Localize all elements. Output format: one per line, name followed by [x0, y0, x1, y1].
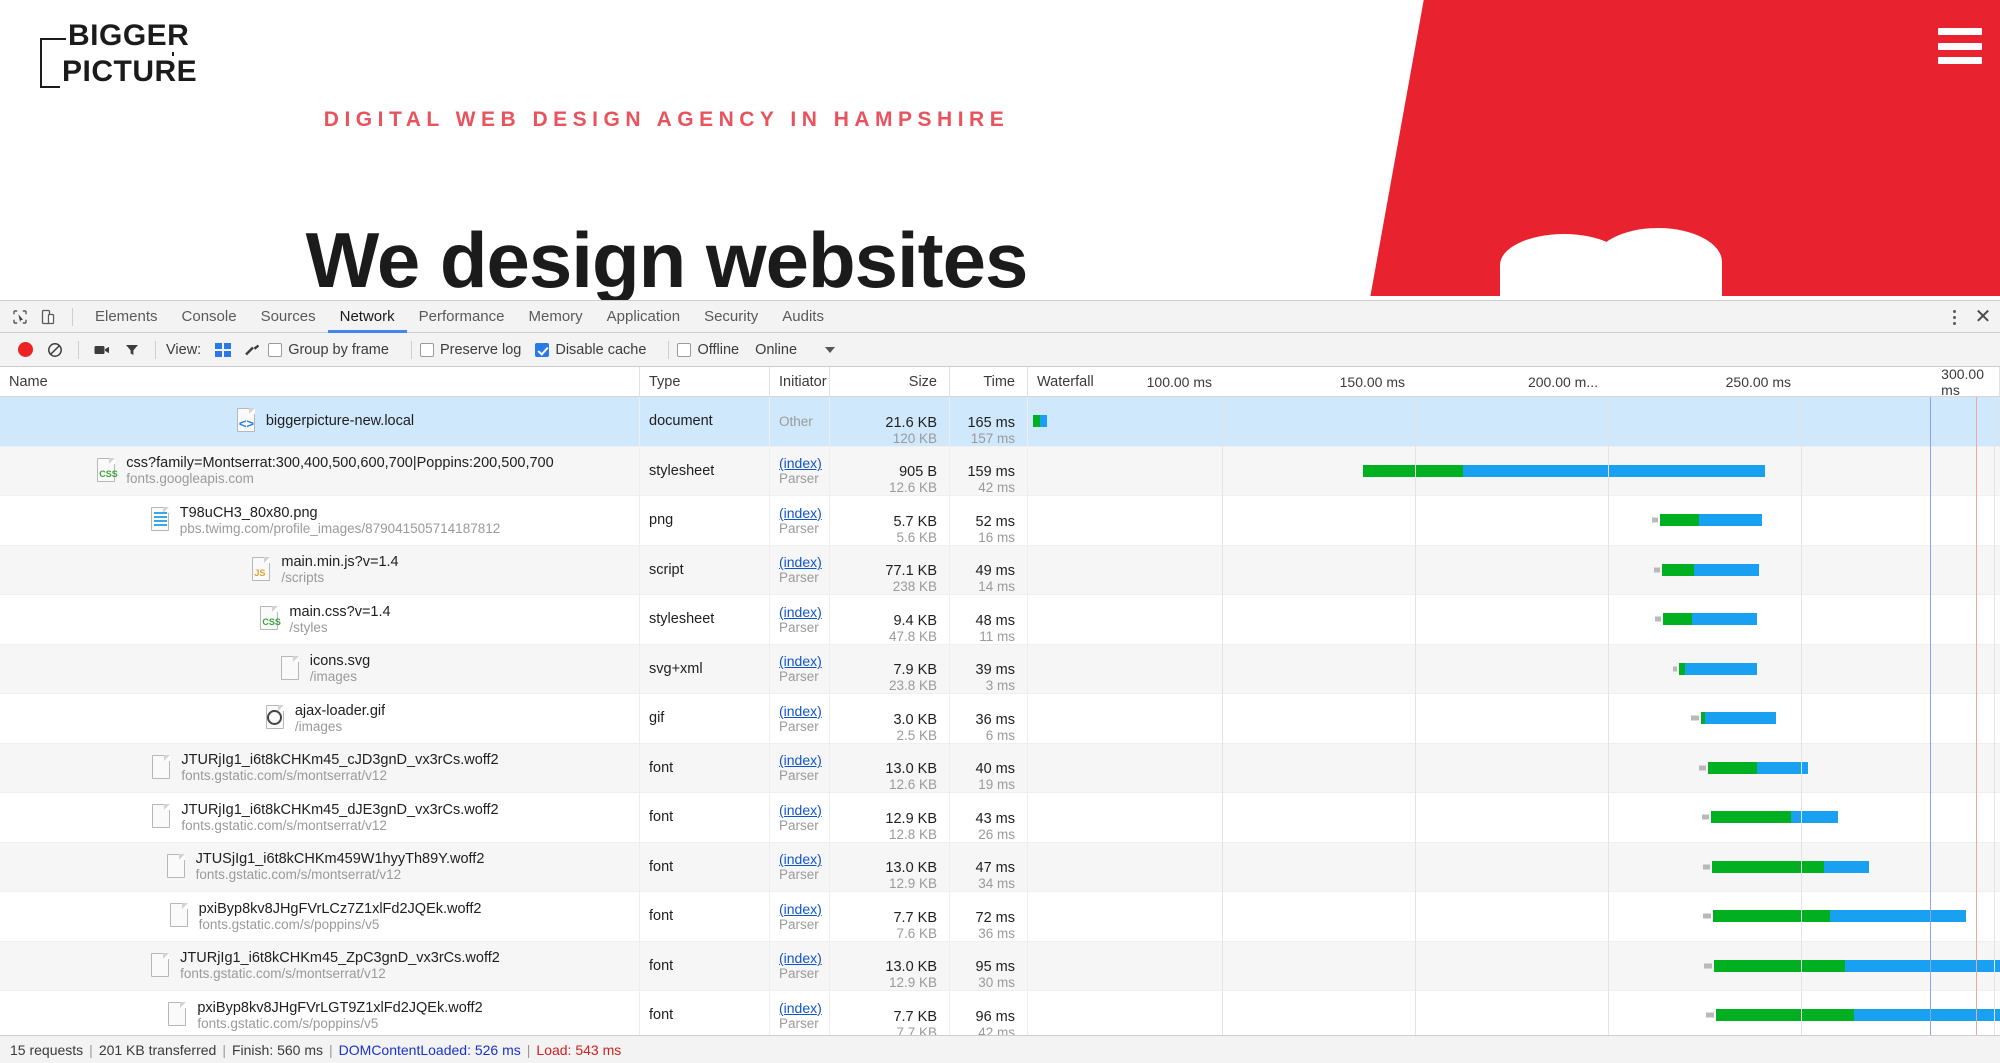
initiator-sub: Parser — [779, 521, 829, 536]
request-name: ajax-loader.gif — [295, 703, 385, 719]
cell-initiator: (index)Parser — [770, 843, 830, 892]
camera-icon[interactable] — [87, 335, 117, 365]
size-sub: 5.6 KB — [896, 530, 937, 545]
site-tagline: DIGITAL WEB DESIGN AGENCY IN HAMPSHIRE — [0, 108, 1333, 132]
cell-waterfall — [1028, 694, 2000, 743]
waterfall-download-segment — [1757, 762, 1808, 774]
toolbar-divider — [72, 308, 73, 326]
table-row[interactable]: pxiByp8kv8JHgFVrLGT9Z1xlFd2JQEk.woff2fon… — [0, 991, 2000, 1039]
status-finish: Finish: 560 ms — [232, 1042, 323, 1058]
size-value: 13.0 KB — [885, 959, 937, 975]
cell-time: 95 ms30 ms — [950, 942, 1028, 991]
time-sub: 19 ms — [978, 777, 1015, 792]
ruler-tick: 250.00 ms — [1726, 367, 1801, 397]
request-path: fonts.gstatic.com/s/montserrat/v12 — [181, 818, 498, 833]
cell-size: 13.0 KB12.9 KB — [830, 843, 950, 892]
waterfall-bar — [1716, 1009, 2000, 1021]
time-value: 96 ms — [976, 1009, 1016, 1025]
waterfall-gridline — [1994, 397, 1995, 1039]
time-sub: 11 ms — [979, 629, 1015, 644]
request-path: fonts.gstatic.com/s/poppins/v5 — [199, 917, 482, 932]
status-transferred: 201 KB transferred — [99, 1042, 217, 1058]
column-header-name[interactable]: Name — [0, 367, 640, 396]
size-value: 12.9 KB — [885, 811, 937, 827]
cell-size: 7.7 KB7.7 KB — [830, 991, 950, 1039]
cell-time: 72 ms36 ms — [950, 892, 1028, 941]
initiator-sub: Parser — [779, 471, 829, 486]
cell-initiator: (index)Parser — [770, 694, 830, 743]
page-title: We design websites — [0, 215, 1333, 306]
cell-time: 39 ms3 ms — [950, 645, 1028, 694]
tab-application[interactable]: Application — [595, 301, 692, 333]
cell-initiator: (index)Parser — [770, 595, 830, 644]
cell-size: 7.9 KB23.8 KB — [830, 645, 950, 694]
request-name: JTUSjIg1_i6t8kCHKm459W1hyyTh89Y.woff2 — [196, 851, 485, 867]
time-sub: 157 ms — [971, 431, 1015, 446]
size-value: 5.7 KB — [893, 514, 937, 530]
request-path: /scripts — [281, 570, 398, 585]
size-sub: 12.8 KB — [889, 827, 937, 842]
initiator-sub: Parser — [779, 669, 829, 684]
table-row[interactable]: CSSmain.css?v=1.4/stylesstylesheet(index… — [0, 595, 2000, 645]
site-logo[interactable]: BIGGER PICTURE — [38, 14, 218, 92]
size-value: 7.7 KB — [893, 910, 937, 926]
waterfall-waiting-segment — [1713, 910, 1830, 922]
waterfall-stalled-segment — [1706, 1013, 1714, 1018]
waterfall-download-segment — [1685, 663, 1757, 675]
load-event-marker — [1976, 397, 1977, 1039]
initiator-sub: Parser — [779, 818, 829, 833]
request-path: fonts.gstatic.com/s/poppins/v5 — [197, 1016, 482, 1031]
tab-security[interactable]: Security — [692, 301, 770, 333]
cell-initiator: Other — [770, 397, 830, 446]
waterfall-download-segment — [1694, 564, 1759, 576]
waterfall-icon[interactable] — [238, 335, 268, 365]
cell-initiator: (index)Parser — [770, 744, 830, 793]
generic-file-icon — [167, 902, 191, 930]
cell-type: stylesheet — [640, 595, 770, 644]
table-row[interactable]: JTURjIg1_i6t8kCHKm45_cJD3gnD_vx3rCs.woff… — [0, 744, 2000, 794]
waterfall-bar — [1679, 663, 1757, 675]
request-path: fonts.gstatic.com/s/montserrat/v12 — [196, 867, 485, 882]
table-row[interactable]: pxiByp8kv8JHgFVrLCz7Z1xlFd2JQEk.woff2fon… — [0, 892, 2000, 942]
table-row[interactable]: CSScss?family=Montserrat:300,400,500,600… — [0, 447, 2000, 497]
time-value: 40 ms — [976, 761, 1016, 777]
initiator-link[interactable]: (index) — [779, 505, 829, 521]
table-row[interactable]: JTURjIg1_i6t8kCHKm45_dJE3gnD_vx3rCs.woff… — [0, 793, 2000, 843]
cell-initiator: (index)Parser — [770, 892, 830, 941]
time-sub: 26 ms — [978, 827, 1015, 842]
logo-line-1: BIGGER — [66, 20, 191, 52]
cell-size: 77.1 KB238 KB — [830, 546, 950, 595]
time-value: 72 ms — [976, 910, 1016, 926]
time-value: 48 ms — [976, 613, 1016, 629]
inspect-element-icon[interactable] — [6, 304, 34, 330]
waterfall-stalled-segment — [1654, 567, 1660, 572]
cell-time: 40 ms19 ms — [950, 744, 1028, 793]
cell-type: png — [640, 496, 770, 545]
size-value: 7.7 KB — [893, 1009, 937, 1025]
cell-name: T98uCH3_80x80.pngpbs.twimg.com/profile_i… — [0, 496, 640, 545]
disable-cache-checkbox[interactable]: Disable cache — [535, 342, 646, 358]
devtools-tabstrip: Elements Console Sources Network Perform… — [0, 301, 2000, 333]
size-sub: 12.9 KB — [889, 975, 937, 990]
waterfall-download-segment — [1040, 415, 1048, 427]
cell-time: 43 ms26 ms — [950, 793, 1028, 842]
waterfall-stalled-segment — [1699, 765, 1707, 770]
preserve-log-checkbox[interactable]: Preserve log — [420, 342, 521, 358]
cell-waterfall — [1028, 991, 2000, 1039]
cell-size: 12.9 KB12.8 KB — [830, 793, 950, 842]
cell-name: JTUSjIg1_i6t8kCHKm459W1hyyTh89Y.woff2fon… — [0, 843, 640, 892]
tab-elements[interactable]: Elements — [83, 301, 170, 333]
time-sub: 42 ms — [978, 480, 1015, 495]
time-value: 43 ms — [976, 811, 1016, 827]
cell-initiator: (index)Parser — [770, 793, 830, 842]
column-header-waterfall[interactable]: Waterfall 100.00 ms150.00 ms200.00 m...2… — [1028, 367, 2000, 396]
size-value: 3.0 KB — [893, 712, 937, 728]
request-path: fonts.gstatic.com/s/montserrat/v12 — [180, 966, 500, 981]
table-row[interactable]: ajax-loader.gif/imagesgif(index)Parser3.… — [0, 694, 2000, 744]
initiator-link[interactable]: (index) — [779, 950, 829, 966]
cell-waterfall — [1028, 397, 2000, 446]
size-sub: 12.6 KB — [889, 777, 937, 792]
time-value: 36 ms — [976, 712, 1016, 728]
initiator-link: Other — [779, 414, 829, 429]
cell-initiator: (index)Parser — [770, 496, 830, 545]
waterfall-download-segment — [1824, 861, 1869, 873]
table-row[interactable]: T98uCH3_80x80.pngpbs.twimg.com/profile_i… — [0, 496, 2000, 546]
waterfall-stalled-segment — [1655, 617, 1661, 622]
waterfall-stalled-segment — [1703, 864, 1711, 869]
request-path: /images — [295, 719, 385, 734]
column-header-time[interactable]: Time — [950, 367, 1028, 396]
waterfall-download-segment — [1854, 1009, 2000, 1021]
time-value: 159 ms — [967, 464, 1015, 480]
css-file-icon: CSS — [94, 457, 118, 485]
network-request-list[interactable]: <>biggerpicture-new.localdocumentOther21… — [0, 397, 2000, 1039]
initiator-link[interactable]: (index) — [779, 851, 829, 867]
initiator-sub: Parser — [779, 768, 829, 783]
cell-time: 96 ms42 ms — [950, 991, 1028, 1039]
cell-type: svg+xml — [640, 645, 770, 694]
waterfall-stalled-segment — [1702, 815, 1710, 820]
initiator-link[interactable]: (index) — [779, 455, 829, 471]
generic-file-icon — [165, 1001, 189, 1029]
large-rows-icon[interactable] — [208, 335, 238, 365]
group-by-frame-checkbox[interactable]: Group by frame — [268, 342, 389, 358]
time-sub: 30 ms — [978, 975, 1015, 990]
waterfall-download-segment — [1692, 613, 1757, 625]
request-path: pbs.twimg.com/profile_images/87904150571… — [180, 521, 500, 536]
offline-checkbox[interactable]: Offline — [677, 342, 739, 358]
column-header-initiator[interactable]: Initiator — [770, 367, 830, 396]
cell-waterfall — [1028, 645, 2000, 694]
initiator-link[interactable]: (index) — [779, 604, 829, 620]
size-value: 13.0 KB — [885, 860, 937, 876]
cell-time: 49 ms14 ms — [950, 546, 1028, 595]
kebab-menu-icon[interactable] — [1942, 304, 1966, 330]
throttling-value: Online — [755, 342, 797, 358]
waterfall-stalled-segment — [1703, 914, 1711, 919]
waterfall-download-segment — [1699, 514, 1762, 526]
cell-time: 165 ms157 ms — [950, 397, 1028, 446]
waterfall-waiting-segment — [1663, 613, 1692, 625]
size-value: 905 B — [899, 464, 937, 480]
generic-file-icon — [164, 853, 188, 881]
generic-file-icon — [278, 655, 302, 683]
checkbox-box-group-by-frame — [268, 343, 282, 357]
size-sub: 47.8 KB — [889, 629, 937, 644]
table-row[interactable]: <>biggerpicture-new.localdocumentOther21… — [0, 397, 2000, 447]
waterfall-bar — [1662, 564, 1759, 576]
request-path: fonts.googleapis.com — [126, 471, 553, 486]
status-sep-1: | — [89, 1042, 93, 1058]
waterfall-waiting-segment — [1714, 960, 1845, 972]
waterfall-bar — [1663, 613, 1757, 625]
network-table-header: Name Type Initiator Size Time Waterfall … — [0, 367, 2000, 397]
initiator-sub: Parser — [779, 1016, 829, 1031]
initiator-link[interactable]: (index) — [779, 901, 829, 917]
cell-type: font — [640, 991, 770, 1039]
waterfall-download-segment — [1830, 910, 1966, 922]
request-name: icons.svg — [310, 653, 370, 669]
initiator-link[interactable]: (index) — [779, 752, 829, 768]
time-value: 165 ms — [967, 415, 1015, 431]
tab-performance[interactable]: Performance — [407, 301, 517, 333]
request-path: /images — [310, 669, 370, 684]
ruler-tick: 300.00 ms — [1941, 367, 1994, 397]
waterfall-gridline — [1608, 397, 1609, 1039]
waterfall-waiting-segment — [1708, 762, 1757, 774]
initiator-link[interactable]: (index) — [779, 554, 829, 570]
size-value: 21.6 KB — [885, 415, 937, 431]
device-toolbar-icon[interactable] — [34, 304, 62, 330]
cell-name: CSScss?family=Montserrat:300,400,500,600… — [0, 447, 640, 496]
checkbox-box-preserve-log — [420, 343, 434, 357]
css-file-icon: CSS — [257, 605, 281, 633]
tab-console[interactable]: Console — [170, 301, 249, 333]
size-sub: 12.6 KB — [889, 480, 937, 495]
cell-initiator: (index)Parser — [770, 991, 830, 1039]
waterfall-waiting-segment — [1712, 861, 1824, 873]
initiator-link[interactable]: (index) — [779, 703, 829, 719]
record-button[interactable] — [10, 335, 40, 365]
request-name: JTURjIg1_i6t8kCHKm45_dJE3gnD_vx3rCs.woff… — [181, 802, 498, 818]
clear-icon[interactable] — [40, 335, 70, 365]
control-divider-3 — [411, 341, 412, 359]
request-name: JTURjIg1_i6t8kCHKm45_ZpC3gnD_vx3rCs.woff… — [180, 950, 500, 966]
cell-type: document — [640, 397, 770, 446]
status-sep-4: | — [527, 1042, 531, 1058]
cell-name: pxiByp8kv8JHgFVrLGT9Z1xlFd2JQEk.woff2fon… — [0, 991, 640, 1039]
js-file-icon: JS — [249, 556, 273, 584]
cell-time: 159 ms42 ms — [950, 447, 1028, 496]
cell-waterfall — [1028, 546, 2000, 595]
cell-type: gif — [640, 694, 770, 743]
size-value: 7.9 KB — [893, 662, 937, 678]
cell-waterfall — [1028, 496, 2000, 545]
size-sub: 23.8 KB — [889, 678, 937, 693]
document-file-icon: <> — [234, 407, 258, 435]
cell-initiator: (index)Parser — [770, 645, 830, 694]
size-value: 13.0 KB — [885, 761, 937, 777]
status-sep-2: | — [222, 1042, 226, 1058]
throttling-select[interactable]: Online — [755, 342, 835, 358]
size-value: 9.4 KB — [893, 613, 937, 629]
waterfall-bar — [1363, 465, 1764, 477]
cell-size: 21.6 KB120 KB — [830, 397, 950, 446]
cell-initiator: (index)Parser — [770, 447, 830, 496]
waterfall-download-segment — [1463, 465, 1764, 477]
cell-name: icons.svg/images — [0, 645, 640, 694]
generic-file-icon — [148, 952, 172, 980]
cell-name: CSSmain.css?v=1.4/styles — [0, 595, 640, 644]
ruler-tick: 200.00 m... — [1528, 367, 1608, 397]
cell-time: 48 ms11 ms — [950, 595, 1028, 644]
checkbox-box-disable-cache — [535, 343, 549, 357]
initiator-sub: Parser — [779, 867, 829, 882]
tab-audits[interactable]: Audits — [770, 301, 836, 333]
cell-waterfall — [1028, 447, 2000, 496]
waterfall-label: Waterfall — [1037, 367, 1094, 397]
cell-size: 7.7 KB7.6 KB — [830, 892, 950, 941]
initiator-sub: Parser — [779, 917, 829, 932]
cell-size: 13.0 KB12.9 KB — [830, 942, 950, 991]
initiator-link[interactable]: (index) — [779, 653, 829, 669]
request-name: main.css?v=1.4 — [289, 604, 390, 620]
request-name: main.min.js?v=1.4 — [281, 554, 398, 570]
tab-network[interactable]: Network — [328, 301, 407, 333]
table-row[interactable]: JSmain.min.js?v=1.4/scriptsscript(index)… — [0, 546, 2000, 596]
cell-type: font — [640, 843, 770, 892]
initiator-sub: Parser — [779, 570, 829, 585]
column-header-size[interactable]: Size — [830, 367, 950, 396]
view-label: View: — [166, 342, 201, 358]
request-name: JTURjIg1_i6t8kCHKm45_cJD3gnD_vx3rCs.woff… — [181, 752, 498, 768]
control-divider — [78, 341, 79, 359]
domcontentloaded-marker — [1930, 397, 1931, 1039]
ruler-tick: 100.00 ms — [1147, 367, 1222, 397]
waterfall-bar — [1708, 762, 1807, 774]
cell-name: JSmain.min.js?v=1.4/scripts — [0, 546, 640, 595]
cell-time: 52 ms16 ms — [950, 496, 1028, 545]
size-sub: 7.6 KB — [896, 926, 937, 941]
time-value: 49 ms — [976, 563, 1016, 579]
waterfall-gridline — [1415, 397, 1416, 1039]
table-row[interactable]: JTUSjIg1_i6t8kCHKm459W1hyyTh89Y.woff2fon… — [0, 843, 2000, 893]
initiator-link[interactable]: (index) — [779, 1000, 829, 1016]
status-sep-3: | — [329, 1042, 333, 1058]
waterfall-bar — [1711, 811, 1837, 823]
time-sub: 6 ms — [986, 728, 1015, 743]
initiator-link[interactable]: (index) — [779, 802, 829, 818]
waterfall-bar — [1033, 415, 1048, 427]
close-icon[interactable]: ✕ — [1970, 304, 1996, 330]
size-value: 77.1 KB — [885, 563, 937, 579]
table-row[interactable]: icons.svg/imagessvg+xml(index)Parser7.9 … — [0, 645, 2000, 695]
preserve-log-label: Preserve log — [440, 342, 521, 358]
png-file-icon — [148, 506, 172, 534]
cell-initiator: (index)Parser — [770, 942, 830, 991]
request-path: fonts.gstatic.com/s/montserrat/v12 — [181, 768, 498, 783]
network-controlbar: View: Group by frame Preserve log Disabl… — [0, 333, 2000, 367]
control-divider-4 — [668, 341, 669, 359]
status-load: Load: 543 ms — [536, 1042, 621, 1058]
status-requests: 15 requests — [10, 1042, 83, 1058]
request-name: pxiByp8kv8JHgFVrLGT9Z1xlFd2JQEk.woff2 — [197, 1000, 482, 1016]
group-by-frame-label: Group by frame — [288, 342, 389, 358]
logo-line-2: PICTURE — [60, 56, 199, 88]
cell-type: font — [640, 892, 770, 941]
tab-sources[interactable]: Sources — [249, 301, 328, 333]
cell-initiator: (index)Parser — [770, 546, 830, 595]
cell-name: JTURjIg1_i6t8kCHKm45_ZpC3gnD_vx3rCs.woff… — [0, 942, 640, 991]
cell-name: pxiByp8kv8JHgFVrLCz7Z1xlFd2JQEk.woff2fon… — [0, 892, 640, 941]
waterfall-waiting-segment — [1033, 415, 1040, 427]
waterfall-gridline — [1801, 397, 1802, 1039]
waterfall-stalled-segment — [1704, 963, 1712, 968]
cell-size: 9.4 KB47.8 KB — [830, 595, 950, 644]
tab-memory[interactable]: Memory — [517, 301, 595, 333]
request-path: /styles — [289, 620, 390, 635]
request-name: css?family=Montserrat:300,400,500,600,70… — [126, 455, 553, 471]
checkbox-box-offline — [677, 343, 691, 357]
hero-shape-bump-right — [1594, 228, 1722, 296]
control-divider-2 — [155, 341, 156, 359]
cell-size: 3.0 KB2.5 KB — [830, 694, 950, 743]
cell-type: script — [640, 546, 770, 595]
devtools-panel: Elements Console Sources Network Perform… — [0, 300, 2000, 1063]
generic-file-icon — [149, 754, 173, 782]
request-name: pxiByp8kv8JHgFVrLCz7Z1xlFd2JQEk.woff2 — [199, 901, 482, 917]
cell-waterfall — [1028, 595, 2000, 644]
size-sub: 12.9 KB — [889, 876, 937, 891]
time-value: 52 ms — [976, 514, 1016, 530]
waterfall-waiting-segment — [1662, 564, 1694, 576]
column-header-type[interactable]: Type — [640, 367, 770, 396]
cell-waterfall — [1028, 892, 2000, 941]
cell-type: font — [640, 942, 770, 991]
cell-size: 13.0 KB12.6 KB — [830, 744, 950, 793]
waterfall-download-segment — [1791, 811, 1838, 823]
cell-name: ajax-loader.gif/images — [0, 694, 640, 743]
network-status-bar: 15 requests | 201 KB transferred | Finis… — [0, 1035, 2000, 1063]
devtools-window-controls: ✕ — [1942, 301, 1996, 333]
hamburger-icon[interactable] — [1938, 28, 1982, 64]
request-name: biggerpicture-new.local — [266, 413, 414, 429]
filter-icon[interactable] — [117, 335, 147, 365]
cell-name: JTURjIg1_i6t8kCHKm45_dJE3gnD_vx3rCs.woff… — [0, 793, 640, 842]
time-sub: 34 ms — [978, 876, 1015, 891]
time-sub: 36 ms — [978, 926, 1015, 941]
time-value: 39 ms — [976, 662, 1016, 678]
waterfall-gridline — [1222, 397, 1223, 1039]
cell-name: <>biggerpicture-new.local — [0, 397, 640, 446]
time-sub: 3 ms — [986, 678, 1015, 693]
waterfall-bar — [1712, 861, 1868, 873]
waterfall-waiting-segment — [1363, 465, 1463, 477]
time-value: 95 ms — [976, 959, 1016, 975]
waterfall-bar — [1713, 910, 1966, 922]
table-row[interactable]: JTURjIg1_i6t8kCHKm45_ZpC3gnD_vx3rCs.woff… — [0, 942, 2000, 992]
waterfall-waiting-segment — [1660, 514, 1699, 526]
disable-cache-label: Disable cache — [555, 342, 646, 358]
cell-waterfall — [1028, 744, 2000, 793]
size-sub: 238 KB — [893, 579, 937, 594]
waterfall-stalled-segment — [1652, 518, 1658, 523]
cell-type: font — [640, 744, 770, 793]
